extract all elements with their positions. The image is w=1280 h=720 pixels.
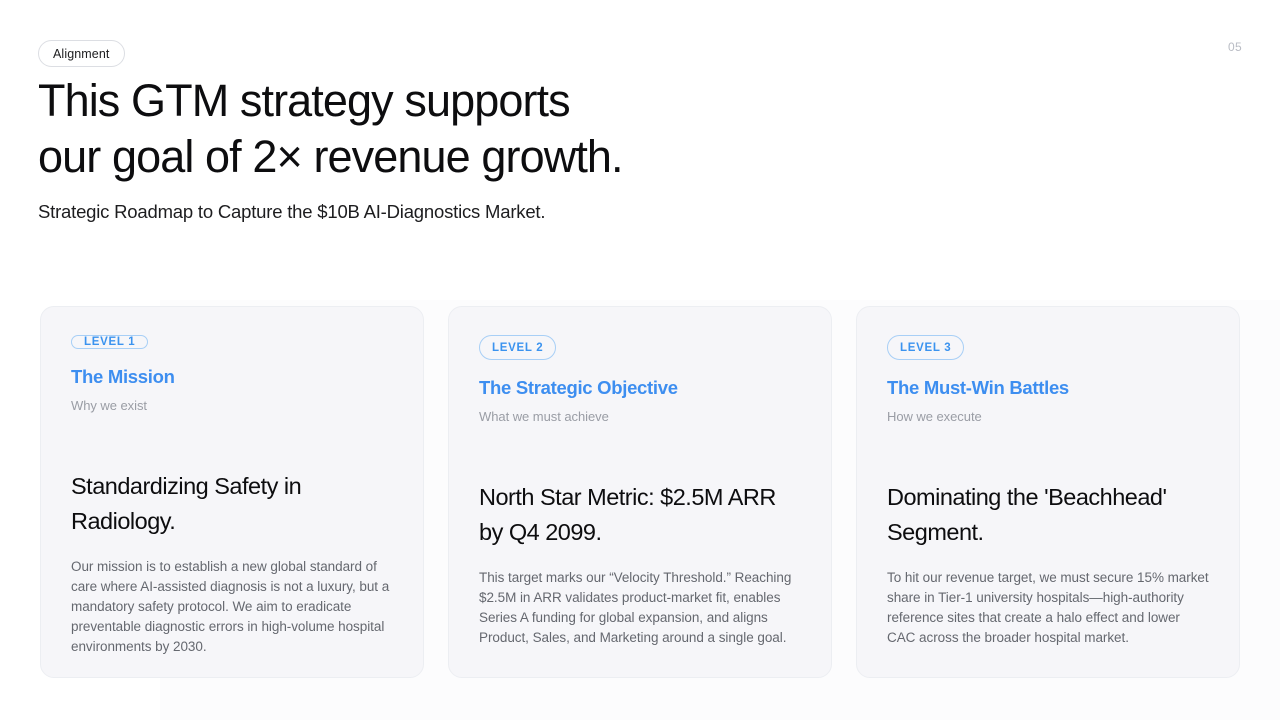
card-body: To hit our revenue target, we must secur… xyxy=(887,568,1209,648)
card-body: Our mission is to establish a new global… xyxy=(71,557,393,657)
level-badge-label: LEVEL 3 xyxy=(900,342,951,354)
card-body: This target marks our “Velocity Threshol… xyxy=(479,568,801,648)
level-badge: LEVEL 2 xyxy=(479,335,556,360)
card-title: The Strategic Objective xyxy=(479,377,801,399)
card-statement: Standardizing Safety in Radiology. xyxy=(71,469,393,539)
level-badge-label: LEVEL 1 xyxy=(84,336,135,348)
slide-root: Alignment 05 This GTM strategy supports … xyxy=(0,0,1280,720)
card-title: The Must-Win Battles xyxy=(887,377,1209,399)
page-number: 05 xyxy=(1228,40,1242,54)
level-badge-label: LEVEL 2 xyxy=(492,342,543,354)
page-title: This GTM strategy supports our goal of 2… xyxy=(38,73,838,185)
card-level-2: LEVEL 2 The Strategic Objective What we … xyxy=(448,306,832,678)
card-grid: LEVEL 1 The Mission Why we exist Standar… xyxy=(40,306,1240,678)
card-caption: What we must achieve xyxy=(479,408,801,426)
card-statement: North Star Metric: $2.5M ARR by Q4 2099. xyxy=(479,480,801,550)
headline-line-2: our goal of 2× revenue growth. xyxy=(38,131,623,182)
card-level-1: LEVEL 1 The Mission Why we exist Standar… xyxy=(40,306,424,678)
eyebrow-badge: Alignment xyxy=(38,40,125,67)
card-caption: How we execute xyxy=(887,408,1209,426)
card-title: The Mission xyxy=(71,366,393,388)
eyebrow-label: Alignment xyxy=(53,47,110,61)
card-caption: Why we exist xyxy=(71,397,393,415)
page-subtitle: Strategic Roadmap to Capture the $10B AI… xyxy=(38,199,545,225)
card-level-3: LEVEL 3 The Must-Win Battles How we exec… xyxy=(856,306,1240,678)
level-badge: LEVEL 1 xyxy=(71,335,148,349)
level-badge: LEVEL 3 xyxy=(887,335,964,360)
headline-line-1: This GTM strategy supports xyxy=(38,75,570,126)
card-statement: Dominating the 'Beachhead' Segment. xyxy=(887,480,1209,550)
